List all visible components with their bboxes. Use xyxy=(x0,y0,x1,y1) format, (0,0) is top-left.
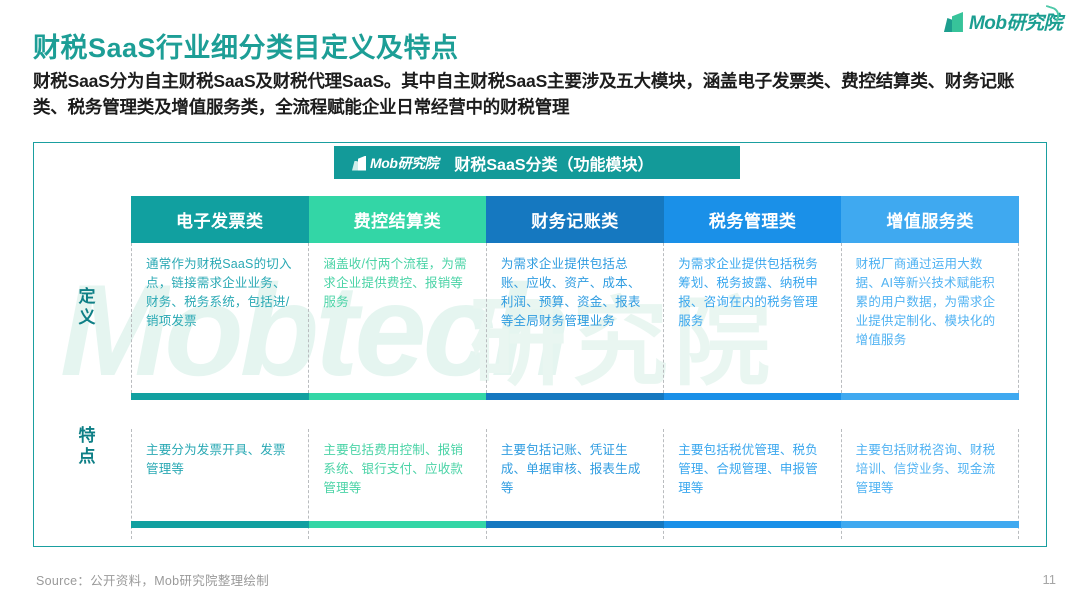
column-header-3[interactable]: 税务管理类 xyxy=(664,196,842,243)
table-body: 通常作为财税SaaS的切入点，链接需求企业业务、财务、税务系统，包括进/销项发票… xyxy=(131,243,1019,528)
table-column-headers: 电子发票类 费控结算类 财务记账类 税务管理类 增值服务类 xyxy=(131,196,1019,243)
cell-definition-2: 为需求企业提供包括总账、应收、资产、成本、利润、预算、资金、报表等全局财务管理业… xyxy=(487,243,664,393)
column-header-1[interactable]: 费控结算类 xyxy=(309,196,487,243)
cell-definition-4: 财税厂商通过运用大数据、AI等新兴技术赋能积累的用户数据，为需求企业提供定制化、… xyxy=(842,243,1019,393)
bottom-seg-3 xyxy=(664,521,842,528)
divider-seg-4 xyxy=(841,393,1019,400)
page-subtitle: 财税SaaS分为自主财税SaaS及财税代理SaaS。其中自主财税SaaS主要涉及… xyxy=(33,68,1043,120)
source-note: Source：公开资料，Mob研究院整理绘制 xyxy=(36,570,269,589)
bottom-seg-1 xyxy=(309,521,487,528)
divider-seg-3 xyxy=(664,393,842,400)
cell-definition-3: 为需求企业提供包括税务筹划、税务披露、纳税申报、咨询在内的税务管理服务 xyxy=(664,243,841,393)
column-header-0[interactable]: 电子发票类 xyxy=(131,196,309,243)
banner-logo: Mob研究院 xyxy=(352,153,438,173)
divider-seg-2 xyxy=(486,393,664,400)
row-label-define: 定义 xyxy=(72,286,102,328)
row-label-feature: 特点 xyxy=(72,425,102,467)
bottom-seg-0 xyxy=(131,521,309,528)
definition-row-divider xyxy=(131,393,1019,400)
column-header-2[interactable]: 财务记账类 xyxy=(486,196,664,243)
page-number: 11 xyxy=(1043,572,1057,587)
bottom-seg-2 xyxy=(486,521,664,528)
page-title: 财税SaaS行业细分类目定义及特点 xyxy=(33,26,459,65)
cell-definition-0: 通常作为财税SaaS的切入点，链接需求企业业务、财务、税务系统，包括进/销项发票 xyxy=(131,243,309,393)
table-banner-title: 财税SaaS分类（功能模块） xyxy=(454,151,653,175)
mob-mountain-logo-icon xyxy=(944,10,964,32)
cell-definition-1: 涵盖收/付两个流程，为需求企业提供费控、报销等服务 xyxy=(309,243,486,393)
banner-logo-text: Mob研究院 xyxy=(370,153,438,173)
mob-mountain-logo-icon xyxy=(352,155,367,171)
brand-logo: Mob研究院 xyxy=(944,8,1062,34)
feature-row-divider xyxy=(131,521,1019,528)
table-row-definition: 通常作为财税SaaS的切入点，链接需求企业业务、财务、税务系统，包括进/销项发票… xyxy=(131,243,1019,393)
column-header-4[interactable]: 增值服务类 xyxy=(841,196,1019,243)
divider-seg-1 xyxy=(309,393,487,400)
bottom-seg-4 xyxy=(841,521,1019,528)
table-banner: Mob研究院 财税SaaS分类（功能模块） xyxy=(334,146,740,179)
divider-seg-0 xyxy=(131,393,309,400)
